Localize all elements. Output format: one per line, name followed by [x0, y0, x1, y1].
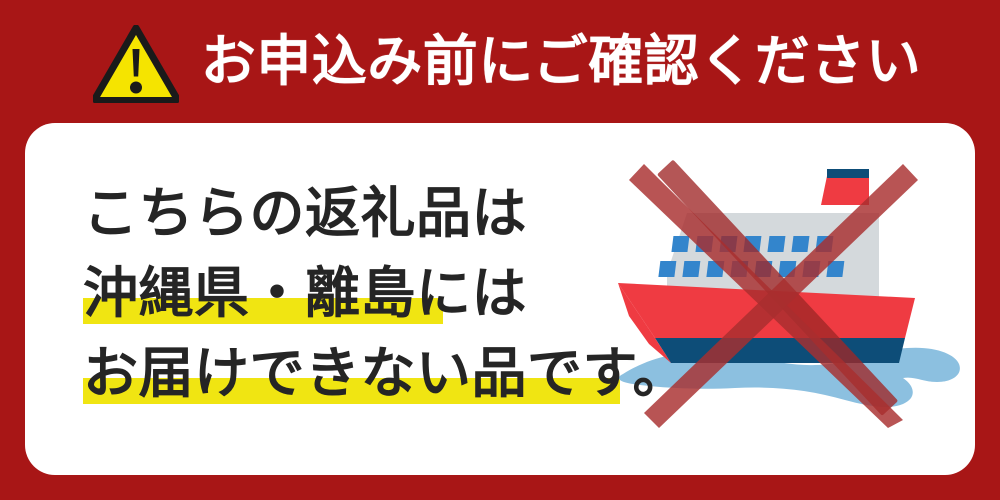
notice-card: こちらの返礼品は 沖縄県・離島には お届けできない品です。: [25, 123, 975, 475]
banner-header: お申込み前にご確認ください: [0, 0, 1000, 123]
warning-triangle-icon: [93, 25, 179, 103]
notice-banner: お申込み前にご確認ください こちらの返礼品は 沖縄県・離島には お届けできない品…: [0, 0, 1000, 500]
message-line-1-text: こちらの返礼品は: [83, 182, 527, 244]
message-line-2: 沖縄県・離島には: [83, 253, 643, 333]
notice-message: こちらの返礼品は 沖縄県・離島には お届けできない品です。: [83, 173, 643, 413]
header-title: お申込み前にご確認ください: [201, 34, 921, 89]
message-line-3: お届けできない品です。: [83, 333, 643, 413]
message-line-2-text: 沖縄県・離島には: [83, 262, 527, 324]
ship-funnel-icon: [821, 169, 869, 205]
message-line-3-text: お届けできない品です。: [83, 342, 688, 404]
message-line-1: こちらの返礼品は: [83, 173, 643, 253]
